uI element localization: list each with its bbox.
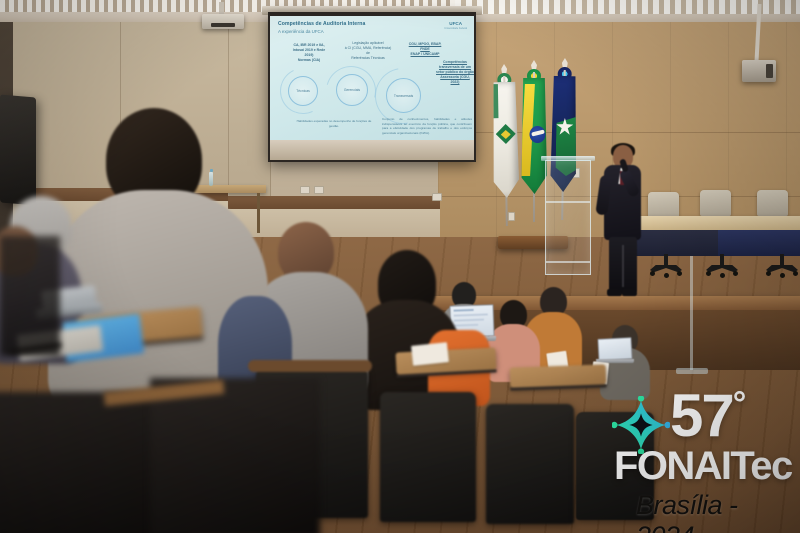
slide-col4-line5: 2022) <box>451 80 460 84</box>
wall-speaker-icon <box>0 94 36 205</box>
logo-wordmark: FONAITec <box>614 446 792 486</box>
slide-org-logo-sub: Universidade Federal <box>444 27 467 30</box>
head-table-skirt <box>636 230 718 256</box>
head-table-skirt-blue <box>718 230 800 256</box>
notebook-paper <box>411 342 449 366</box>
presenter-leg-split <box>622 245 624 287</box>
slide-col4-line2: transversais de um <box>439 65 471 69</box>
slide-col3-line1: CGU, MPOG, EBAP, <box>409 42 442 46</box>
laptop-screen <box>597 337 632 361</box>
photo-scene: Competências de Auditoria Interna A expe… <box>0 0 800 533</box>
mic-stand <box>690 250 693 370</box>
logo-edition-digits: 57 <box>670 382 733 449</box>
wall-outlet <box>432 193 442 201</box>
slide-col2-line4: Referências Técnicas <box>351 56 385 60</box>
logo-edition-number: 57° <box>670 386 744 446</box>
presenter-shoe <box>607 289 622 296</box>
mic-stand-base <box>676 368 708 374</box>
tablet-arm-desk <box>510 364 607 387</box>
logo-location-year: Brasília - 2024 <box>636 490 800 533</box>
slide-column-1: CA, IBR 2019 e IIA, Intosai 2019 e Rede … <box>286 43 332 63</box>
slide-title: Competências de Auditoria Interna <box>278 21 365 27</box>
ceiling-speaker-icon <box>742 60 776 82</box>
slide-col2-line1: Legislação aplicável <box>352 41 383 45</box>
screen-bottom-bar <box>270 140 474 160</box>
slide-ring-2: Gerenciais <box>336 74 368 106</box>
slide-ring-1: Técnicas <box>288 76 318 106</box>
slide-column-2: Legislação aplicável à CI (CGU, MMA, Ref… <box>338 41 398 61</box>
presenter <box>600 145 646 295</box>
slide-col4-line3: setor público do órgão <box>436 70 474 74</box>
wall-panel <box>229 22 271 200</box>
slide-col2-line3: de <box>366 51 370 55</box>
head-table-chair <box>757 190 788 216</box>
slide-col1-line2: Intosai 2019 e Rede <box>293 48 326 52</box>
slide-col4-line1: Competências <box>443 60 467 64</box>
head-table-chair-base <box>650 254 682 276</box>
slide-col2-line2: à CI (CGU, MMA, Referência) <box>345 46 391 50</box>
slide-org-logo-text: UFCA <box>449 21 462 26</box>
slide-col1-line3: 2019) <box>305 53 314 57</box>
wall-outlet <box>314 186 324 194</box>
presentation-slide: Competências de Auditoria Interna A expe… <box>270 16 474 140</box>
slide-org-logo: UFCA Universidade Federal <box>444 21 467 30</box>
head-table <box>636 216 800 230</box>
slide-column-4: Competências transversais de um setor pú… <box>436 60 474 85</box>
foreground-person <box>0 236 60 356</box>
slide-col3-line3: ENAP / UNICAMP <box>411 52 440 56</box>
lectern-shelf <box>546 261 590 263</box>
flag-stripe <box>493 84 499 118</box>
projector-icon <box>202 14 244 29</box>
auditorium-seat <box>380 392 476 522</box>
event-logo: 57° FONAITec Brasília - 2024 <box>612 388 800 516</box>
foreground-seat <box>150 378 320 533</box>
slide-ring-2-label: Gerenciais <box>337 88 367 92</box>
projection-screen: Competências de Auditoria Interna A expe… <box>268 12 476 162</box>
slide-col1-line1: CA, IBR 2019 e IIA, <box>293 43 324 47</box>
slide-footnote-1: Habilidades esperadas no desempenho de f… <box>292 119 376 128</box>
head-table-chair <box>648 192 679 218</box>
seat-frame <box>248 360 372 372</box>
logo-degree-symbol: ° <box>733 385 745 423</box>
water-bottle <box>209 172 213 186</box>
presenter-shoe <box>622 289 637 296</box>
slide-column-3: CGU, MPOG, EBAP, FNDE ENAP / UNICAMP <box>401 42 449 57</box>
head-table-chair-base <box>706 254 738 276</box>
auditorium-seat <box>486 404 574 524</box>
slide-col4-line4: Assessoria (CGU, <box>440 75 470 79</box>
slide-subtitle: A experiência da UFCA <box>278 29 324 34</box>
slide-col3-line2: FNDE <box>420 47 430 51</box>
lectern-shelf <box>546 201 590 203</box>
head-table-chair <box>700 190 731 216</box>
slide-footnote-2: Conjunto de conhecimentos, habilidades e… <box>382 117 472 136</box>
slide-ring-1-label: Técnicas <box>289 89 317 93</box>
ceiling-light-strip-right <box>455 0 800 14</box>
acrylic-lectern <box>545 160 591 275</box>
head-table-chair-base <box>766 254 798 276</box>
slide-col1-line4: Normas (CIA) <box>298 58 320 62</box>
slide-ring-3: Transversais <box>386 78 421 113</box>
slide-ring-3-label: Transversais <box>387 94 420 98</box>
wall-outlet <box>300 186 310 194</box>
